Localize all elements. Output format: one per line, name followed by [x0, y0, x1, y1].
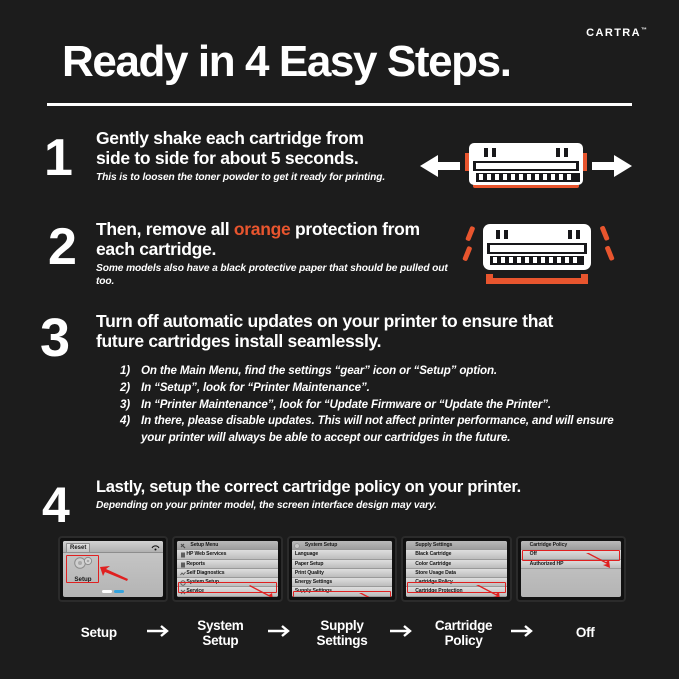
- menu-item-label: HP Web Services: [186, 551, 226, 557]
- step-1-heading: Gently shake each cartridge from side to…: [96, 128, 414, 169]
- cartridge-policy-header-label: Cartridge Policy: [530, 542, 567, 548]
- wifi-icon: [151, 543, 160, 553]
- menu-item-cartridge-policy[interactable]: Cartridge Policy: [406, 578, 506, 587]
- step-1-heading-line2: side to side for about 5 seconds.: [96, 148, 414, 168]
- step-1: 1 Gently shake each cartridge from side …: [44, 128, 414, 185]
- poster-root: CARTRA™ Ready in 4 Easy Steps. 1 Gently …: [0, 0, 679, 679]
- menu-item-print-quality[interactable]: Print Quality: [292, 569, 392, 578]
- substep-item: 3) In “Printer Maintenance”, look for “U…: [120, 397, 640, 414]
- menu-item-label: Cartridge Policy: [415, 579, 452, 585]
- wrench-icon: [180, 543, 186, 549]
- tools-icon: [180, 589, 186, 595]
- substep-item: 4) In there, please disable updates. Thi…: [120, 413, 640, 447]
- flow-label-text: Off: [576, 625, 595, 640]
- menu-item-label: Off: [530, 551, 537, 557]
- substep-marker: 3): [120, 397, 141, 414]
- menu-item-label: Authorized HP: [530, 561, 564, 567]
- step-4-heading: Lastly, setup the correct cartridge poli…: [96, 478, 640, 497]
- brand-name: CARTRA: [586, 27, 641, 39]
- menu-item-off[interactable]: Off: [521, 550, 621, 559]
- step-3-number: 3: [40, 311, 68, 365]
- cartridge-peel-icon: [462, 218, 617, 290]
- flow-label-text: System Setup: [197, 618, 243, 648]
- step-3-heading: Turn off automatic updates on your print…: [96, 311, 640, 352]
- supply-settings-header-label: Supply Settings: [415, 542, 452, 548]
- globe-icon: [180, 552, 186, 558]
- substep-marker: 1): [120, 363, 141, 380]
- step-2-heading-highlight: orange: [234, 219, 291, 239]
- step-2-heading-line2: each cartridge.: [96, 239, 464, 259]
- step-2-number: 2: [48, 221, 75, 273]
- flow-label-cartridge-policy: Cartridge Policy: [423, 618, 505, 648]
- flow-label-system-setup: System Setup: [180, 618, 262, 648]
- menu-item-label: Language: [295, 551, 318, 557]
- menu-item-label: Print Quality: [295, 570, 324, 576]
- substep-text: On the Main Menu, find the settings “gea…: [141, 363, 640, 380]
- system-setup-screen[interactable]: System Setup Language Paper Setup Print …: [287, 536, 397, 602]
- setup-tile-label: Setup: [68, 576, 98, 583]
- menu-item-label: Store Usage Data: [415, 570, 456, 576]
- step-2: 2 Then, remove all orange protection fro…: [44, 219, 464, 288]
- menu-item-label: Cartridge Protection: [415, 588, 462, 594]
- gear-icon: [180, 580, 186, 586]
- menu-item-supply-settings[interactable]: Supply Settings: [292, 587, 392, 596]
- step-3-substep-list: 1) On the Main Menu, find the settings “…: [120, 363, 640, 447]
- setup-menu-header: Setup Menu: [177, 541, 277, 550]
- menu-item-service[interactable]: Service: [177, 587, 277, 596]
- flow-arrow-icon: [383, 624, 423, 643]
- trademark-icon: ™: [641, 27, 647, 33]
- flow-label-text: Cartridge Policy: [435, 618, 492, 648]
- setup-menu-header-label: Setup Menu: [190, 542, 218, 548]
- menu-item-label: Service: [186, 588, 203, 594]
- substep-item: 1) On the Main Menu, find the settings “…: [120, 363, 640, 380]
- menu-item-label: System Setup: [186, 579, 219, 585]
- system-setup-header: System Setup: [292, 541, 392, 550]
- step-3: 3 Turn off automatic updates on your pri…: [40, 311, 640, 447]
- step-2-heading-post: protection from: [290, 219, 419, 239]
- step-1-number: 1: [44, 132, 71, 184]
- step-2-heading-line1: Then, remove all orange protection from: [96, 219, 464, 239]
- menu-item-store-usage-data[interactable]: Store Usage Data: [406, 569, 506, 578]
- flow-arrow-icon: [504, 624, 544, 643]
- substep-text: In “Printer Maintenance”, look for “Upda…: [141, 397, 640, 414]
- step-3-heading-line2: future cartridges install seamlessly.: [96, 331, 640, 351]
- cartridge-policy-screen[interactable]: Cartridge Policy Off Authorized HP: [516, 536, 626, 602]
- menu-item-label: Paper Setup: [295, 561, 324, 567]
- step-1-heading-line1: Gently shake each cartridge from: [96, 128, 414, 148]
- home-screen[interactable]: Reset Setup: [58, 536, 168, 602]
- setup-menu-screen[interactable]: Setup Menu HP Web Services Reports Self …: [172, 536, 282, 602]
- step-4: 4 Lastly, setup the correct cartridge po…: [40, 478, 640, 513]
- menu-item-language[interactable]: Language: [292, 550, 392, 559]
- menu-item-system-setup[interactable]: System Setup: [177, 578, 277, 587]
- pointer-arrow-icon: [99, 565, 129, 581]
- menu-item-cartridge-protection[interactable]: Cartridge Protection: [406, 587, 506, 596]
- pager-dot-active[interactable]: [102, 590, 112, 593]
- step-2-subtext: Some models also have a black protective…: [96, 263, 464, 289]
- cartridge-policy-header: Cartridge Policy: [521, 541, 621, 550]
- flow-label-setup: Setup: [58, 625, 140, 640]
- menu-item-authorized-hp[interactable]: Authorized HP: [521, 560, 621, 569]
- menu-item-paper-setup[interactable]: Paper Setup: [292, 560, 392, 569]
- menu-item-self-diagnostics[interactable]: Self Diagnostics: [177, 569, 277, 578]
- brand-logo: CARTRA™: [586, 27, 647, 39]
- menu-item-label: Reports: [186, 561, 205, 567]
- menu-item-label: Supply Settings: [295, 588, 332, 594]
- printer-screen-sequence: Reset Setup: [58, 536, 626, 602]
- flow-label-text: Setup: [81, 625, 117, 640]
- step-1-subtext: This is to loosen the toner powder to ge…: [96, 172, 414, 185]
- report-icon: [180, 562, 186, 568]
- flow-arrow-icon: [140, 624, 180, 643]
- system-setup-header-label: System Setup: [305, 542, 338, 548]
- menu-item-label: Energy Settings: [295, 579, 332, 585]
- pager-dots[interactable]: [102, 590, 124, 593]
- flow-label-row: Setup System Setup Supply Settings Cartr…: [58, 608, 626, 658]
- supply-settings-screen[interactable]: Supply Settings Black Cartridge Color Ca…: [401, 536, 511, 602]
- menu-item-energy-settings[interactable]: Energy Settings: [292, 578, 392, 587]
- menu-item-label: Color Cartridge: [415, 561, 451, 567]
- substep-marker: 2): [120, 380, 141, 397]
- substep-item: 2) In “Setup”, look for “Printer Mainten…: [120, 380, 640, 397]
- gear-icon: [294, 543, 300, 549]
- step-4-number: 4: [42, 480, 68, 530]
- flow-label-text: Supply Settings: [317, 618, 368, 648]
- title-divider: [47, 103, 632, 106]
- cartridge-shake-icon: [414, 135, 638, 197]
- home-screen-statusbar: Reset: [63, 541, 163, 553]
- flow-label-off: Off: [544, 625, 626, 640]
- menu-item-label: Self Diagnostics: [186, 570, 224, 576]
- substep-marker: 4): [120, 413, 141, 447]
- step-2-heading: Then, remove all orange protection from …: [96, 219, 464, 260]
- gear-icon: [72, 557, 94, 574]
- menu-item-color-cartridge[interactable]: Color Cartridge: [406, 560, 506, 569]
- step-4-subtext: Depending on your printer model, the scr…: [96, 500, 640, 513]
- reset-button[interactable]: Reset: [66, 543, 90, 553]
- diagnostics-icon: [180, 571, 186, 577]
- setup-tile[interactable]: Setup: [68, 556, 98, 583]
- flow-arrow-icon: [261, 624, 301, 643]
- menu-item-black-cartridge[interactable]: Black Cartridge: [406, 550, 506, 559]
- substep-text: In there, please disable updates. This w…: [141, 413, 640, 447]
- menu-item-reports[interactable]: Reports: [177, 560, 277, 569]
- menu-item-hp-web-services[interactable]: HP Web Services: [177, 550, 277, 559]
- page-title: Ready in 4 Easy Steps.: [62, 40, 511, 84]
- substep-text: In “Setup”, look for “Printer Maintenanc…: [141, 380, 640, 397]
- pager-dot[interactable]: [114, 590, 124, 593]
- flow-label-supply-settings: Supply Settings: [301, 618, 383, 648]
- supply-settings-header: Supply Settings: [406, 541, 506, 550]
- step-2-heading-pre: Then, remove all: [96, 219, 234, 239]
- step-3-heading-line1: Turn off automatic updates on your print…: [96, 311, 640, 331]
- menu-item-label: Black Cartridge: [415, 551, 451, 557]
